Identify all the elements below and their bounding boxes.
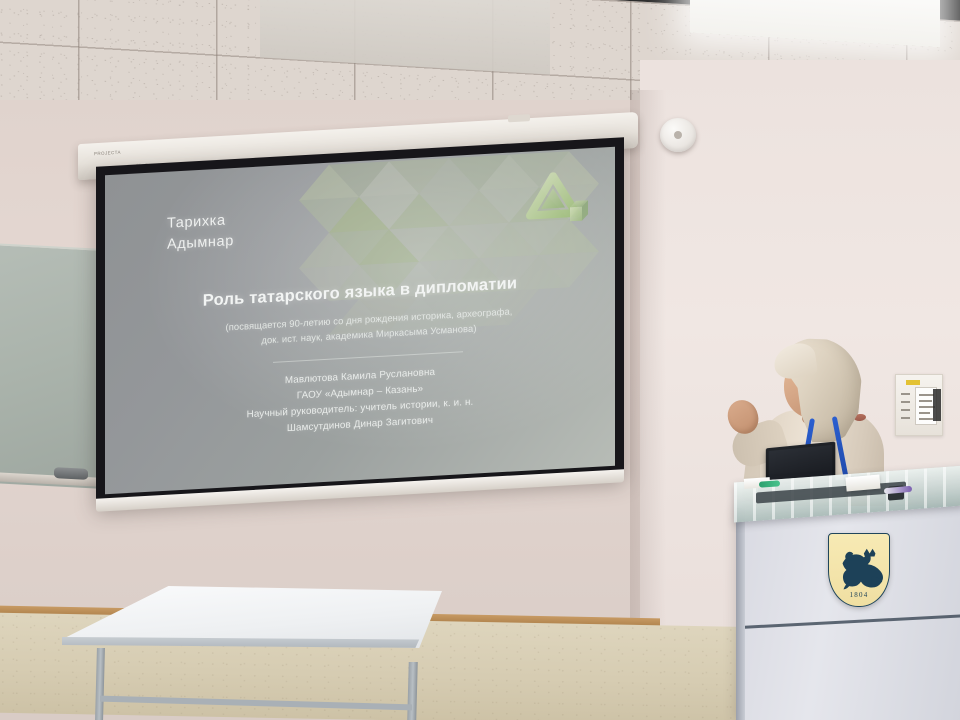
wifi-access-point-icon <box>660 118 696 152</box>
notice-dark-strip <box>933 389 941 421</box>
screen-case-brand-label: PROJECTA <box>94 150 121 157</box>
adymnar-triangle-logo <box>523 170 589 236</box>
crest-year: 1804 <box>829 591 889 599</box>
papers-on-lectern <box>845 475 880 492</box>
projection-screen: Тарихка Адымнар Роль татарского языка в … <box>96 137 624 505</box>
screen-case-bracket <box>508 114 530 122</box>
wall-whiteboard <box>0 243 100 489</box>
presenter-hijab-front-fold <box>772 341 818 381</box>
lectern-left-edge <box>736 508 745 720</box>
university-crest: 1804 <box>828 533 890 607</box>
conference-room-photo: PROJECTA SlimScreen <box>0 0 960 720</box>
table-leg-right <box>407 662 418 720</box>
slide-author-block: Мавлютова Камила Руслановна ГАОУ «Адымна… <box>141 357 579 445</box>
slide-brand-line-2: Адымнар <box>167 231 234 256</box>
slide-brand-block: Тарихка Адымнар <box>167 210 234 256</box>
whiteboard-eraser <box>54 467 88 480</box>
presentation-slide: Тарихка Адымнар Роль татарского языка в … <box>105 147 615 495</box>
